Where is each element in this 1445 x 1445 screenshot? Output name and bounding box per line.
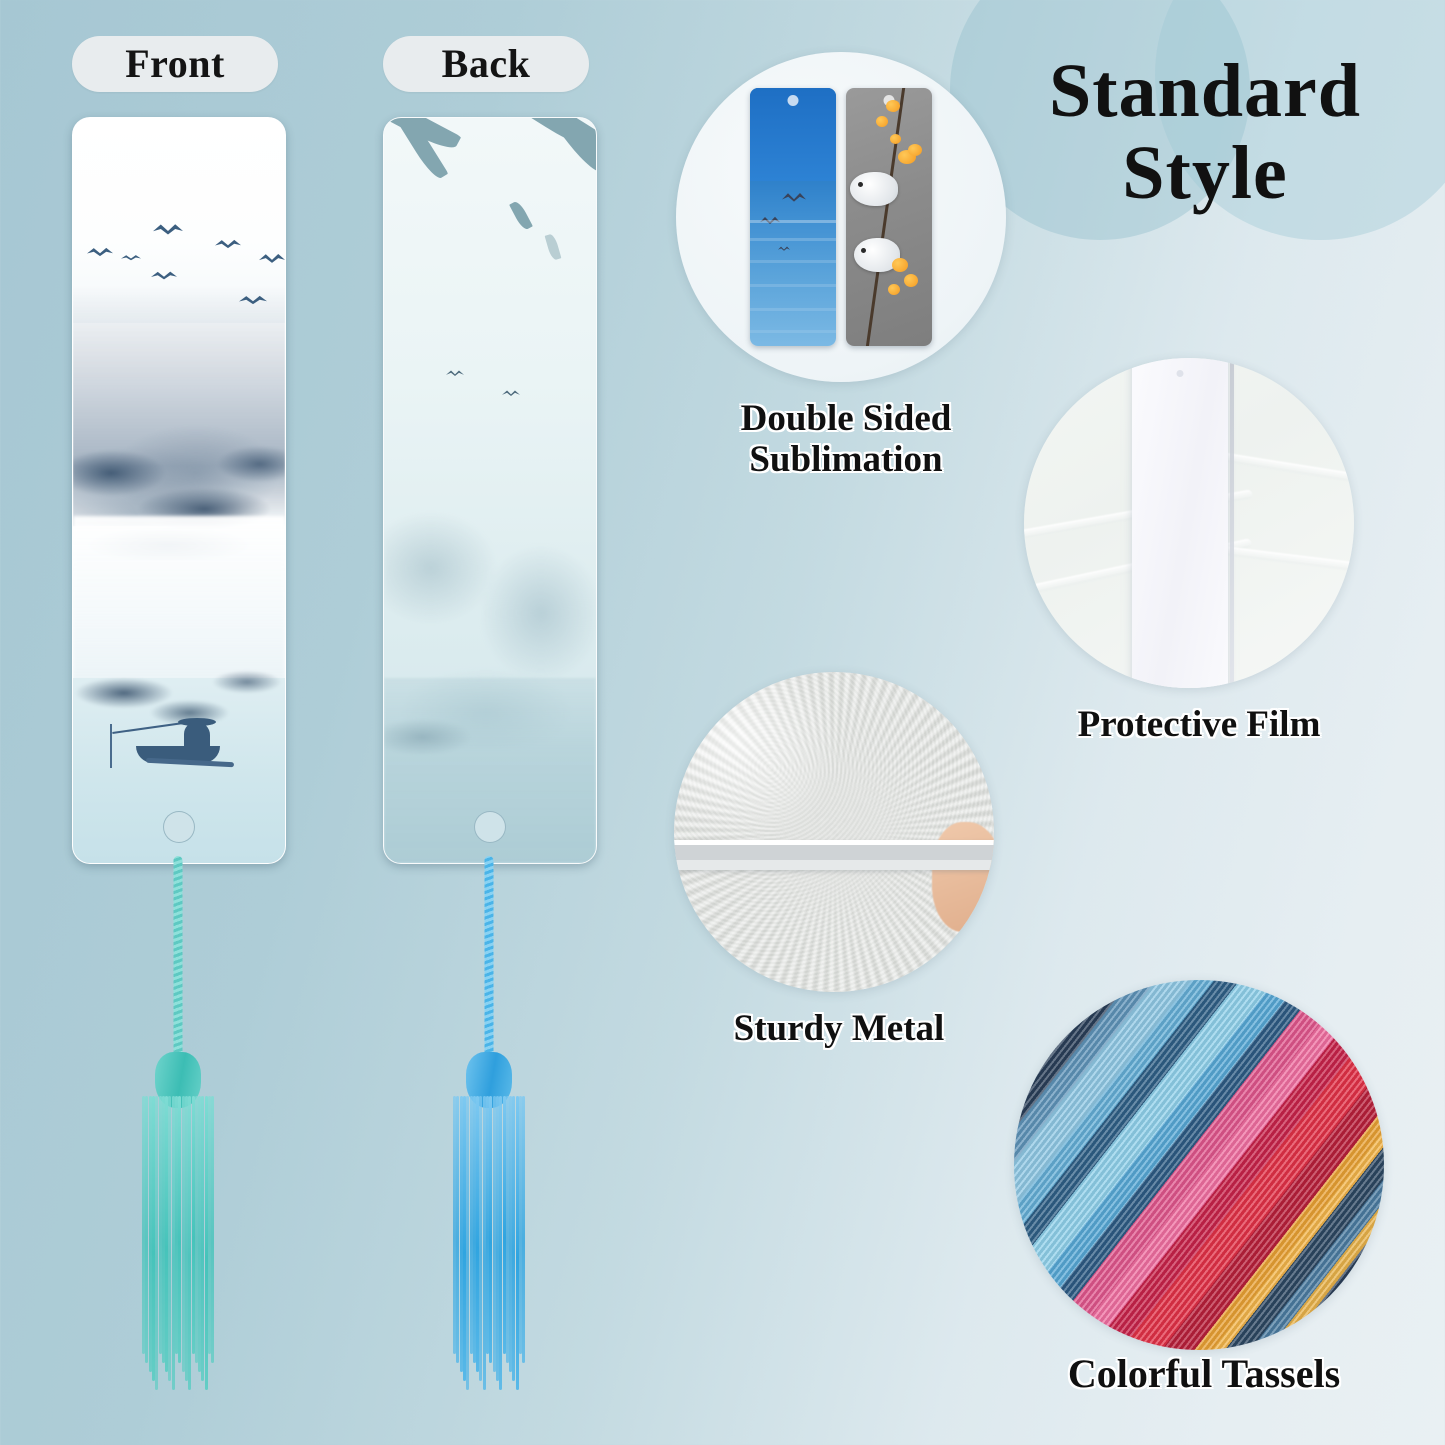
tassel-strand — [211, 1096, 214, 1363]
bookmark-sample-birds — [846, 88, 932, 346]
tassel-strand — [512, 1096, 515, 1381]
gull-icon — [782, 192, 806, 204]
bird-icon — [502, 390, 520, 397]
metal-bookmark-strip — [674, 840, 994, 870]
bird-icon — [259, 252, 285, 266]
feature-protective-film: Protective Film — [1024, 358, 1374, 688]
tassel-strand — [479, 1096, 482, 1381]
feature-image-protective-film — [1024, 358, 1354, 688]
feature-image-colorful-tassels — [1014, 980, 1384, 1350]
fishing-line — [110, 724, 112, 768]
back-bookmark-hole — [474, 811, 506, 843]
tassel-fringe — [452, 1096, 526, 1396]
back-bookmark — [383, 117, 597, 864]
page-title: Standard Style — [995, 50, 1415, 214]
tassel-strand — [456, 1096, 459, 1363]
bird-icon — [121, 254, 141, 262]
feature-colorful-tassels: Colorful Tassels — [1014, 980, 1394, 1350]
tassel-strand — [499, 1096, 502, 1390]
label-back: Back — [383, 36, 589, 92]
fisherman-boat — [128, 718, 238, 766]
tassel-strand — [466, 1096, 469, 1390]
tassel-fringe — [141, 1096, 215, 1396]
gull-icon — [778, 246, 790, 252]
tassel-strand — [168, 1096, 171, 1381]
bird-icon — [239, 294, 267, 307]
bird-icon — [153, 222, 183, 238]
tassel-strand — [489, 1096, 492, 1363]
tassel-strand — [145, 1096, 148, 1363]
feature-double-sided-sublimation: Double Sided Sublimation — [676, 52, 1016, 382]
front-bookmark-hole — [163, 811, 195, 843]
feature-caption-double-sided: Double Sided Sublimation — [676, 398, 1016, 481]
feature-caption-colorful-tassels: Colorful Tassels — [1014, 1352, 1394, 1397]
feature-image-sturdy-metal — [674, 672, 994, 992]
white-bird-icon — [850, 172, 898, 206]
bird-icon — [87, 246, 113, 259]
bird-icon — [151, 270, 177, 282]
back-grass — [384, 683, 596, 773]
tassel-cord — [174, 856, 183, 1056]
tassel-strand — [155, 1096, 158, 1390]
page-title-line-1: Standard — [1049, 49, 1361, 133]
tassel-cord — [485, 856, 494, 1056]
finger — [932, 822, 994, 932]
feature-caption-sturdy-metal: Sturdy Metal — [674, 1008, 1004, 1049]
sample-hole — [788, 95, 799, 106]
film-edge — [1230, 358, 1234, 688]
boat-reflection — [146, 758, 234, 768]
bird-icon — [215, 238, 241, 251]
berry-branch — [864, 88, 906, 346]
bookmark-hole — [1177, 370, 1184, 377]
feature-image-double-sided — [676, 52, 1006, 382]
front-bookmark — [72, 117, 286, 864]
feature-caption-protective-film: Protective Film — [1024, 704, 1374, 745]
label-front: Front — [72, 36, 278, 92]
tassel-strand — [522, 1096, 525, 1363]
tassel-strand — [201, 1096, 204, 1381]
tassel-strand — [188, 1096, 191, 1390]
thread-sheen — [1014, 980, 1384, 1350]
tassel-strand — [178, 1096, 181, 1363]
page-title-line-2: Style — [995, 132, 1415, 214]
bird-icon — [446, 370, 464, 377]
bookmark-sample-ocean — [750, 88, 836, 346]
feature-sturdy-metal: Sturdy Metal — [674, 672, 1004, 992]
blank-bookmark — [1132, 358, 1228, 688]
